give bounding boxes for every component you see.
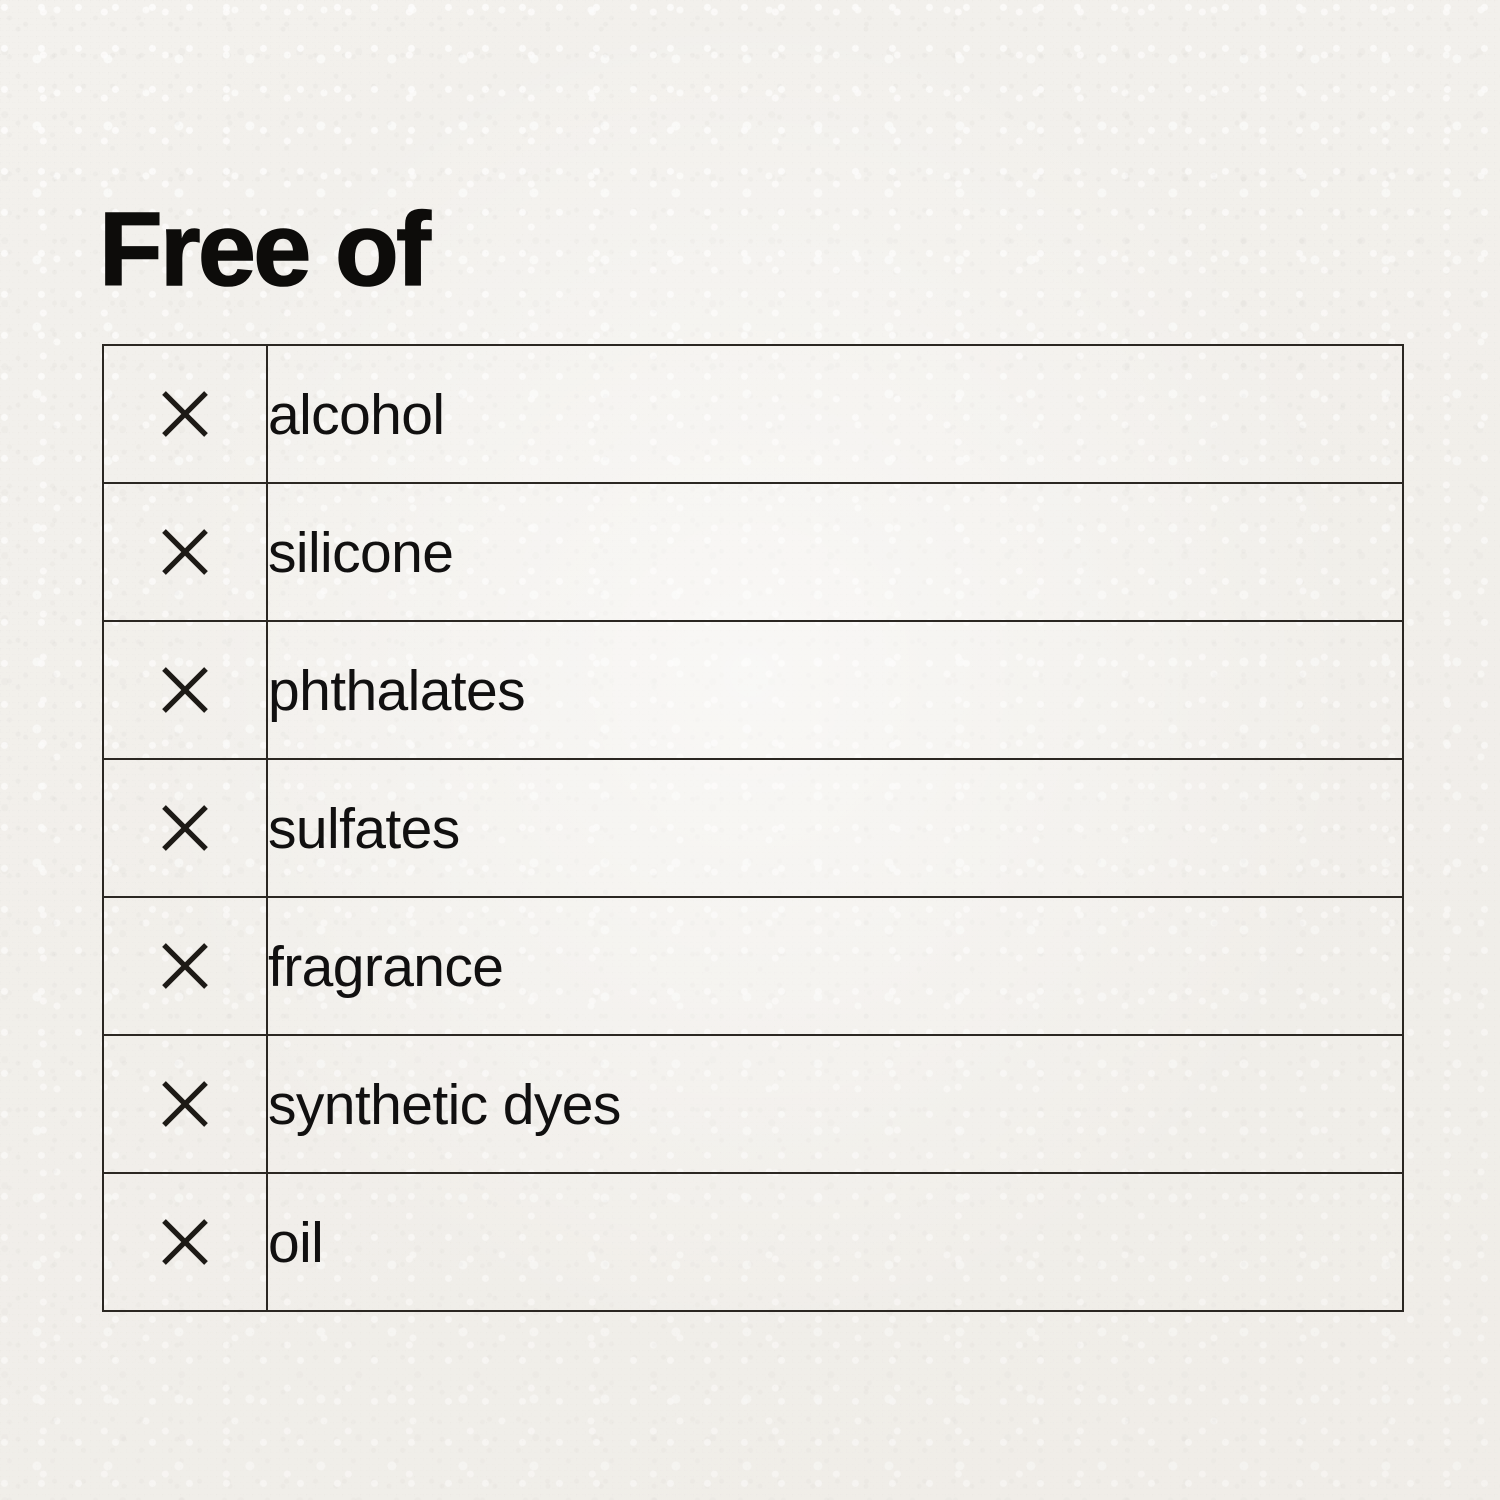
label-cell: synthetic dyes bbox=[267, 1035, 1403, 1173]
row-label: silicone bbox=[268, 525, 1402, 582]
x-mark-icon bbox=[159, 1078, 211, 1130]
row-label: phthalates bbox=[268, 663, 1402, 720]
free-of-table: alcohol silicone bbox=[102, 344, 1404, 1312]
label-cell: silicone bbox=[267, 483, 1403, 621]
x-mark-icon bbox=[159, 802, 211, 854]
label-cell: sulfates bbox=[267, 759, 1403, 897]
row-label: oil bbox=[268, 1215, 1402, 1272]
table-row: oil bbox=[103, 1173, 1403, 1311]
x-mark-icon bbox=[159, 526, 211, 578]
table-row: fragrance bbox=[103, 897, 1403, 1035]
page-title: Free of bbox=[99, 198, 428, 302]
mark-cell bbox=[103, 621, 267, 759]
row-label: fragrance bbox=[268, 939, 1402, 996]
mark-cell bbox=[103, 1173, 267, 1311]
label-cell: phthalates bbox=[267, 621, 1403, 759]
free-of-panel: Free of alcohol bbox=[0, 0, 1500, 1500]
row-label: sulfates bbox=[268, 801, 1402, 858]
mark-cell bbox=[103, 345, 267, 483]
x-mark-icon bbox=[159, 388, 211, 440]
table-row: silicone bbox=[103, 483, 1403, 621]
mark-cell bbox=[103, 1035, 267, 1173]
table-row: synthetic dyes bbox=[103, 1035, 1403, 1173]
label-cell: fragrance bbox=[267, 897, 1403, 1035]
row-label: synthetic dyes bbox=[268, 1077, 1402, 1134]
table-row: phthalates bbox=[103, 621, 1403, 759]
label-cell: alcohol bbox=[267, 345, 1403, 483]
mark-cell bbox=[103, 897, 267, 1035]
mark-cell bbox=[103, 759, 267, 897]
table-row: sulfates bbox=[103, 759, 1403, 897]
free-of-table-body: alcohol silicone bbox=[103, 345, 1403, 1311]
mark-cell bbox=[103, 483, 267, 621]
row-label: alcohol bbox=[268, 387, 1402, 444]
x-mark-icon bbox=[159, 664, 211, 716]
x-mark-icon bbox=[159, 940, 211, 992]
table-row: alcohol bbox=[103, 345, 1403, 483]
x-mark-icon bbox=[159, 1216, 211, 1268]
label-cell: oil bbox=[267, 1173, 1403, 1311]
